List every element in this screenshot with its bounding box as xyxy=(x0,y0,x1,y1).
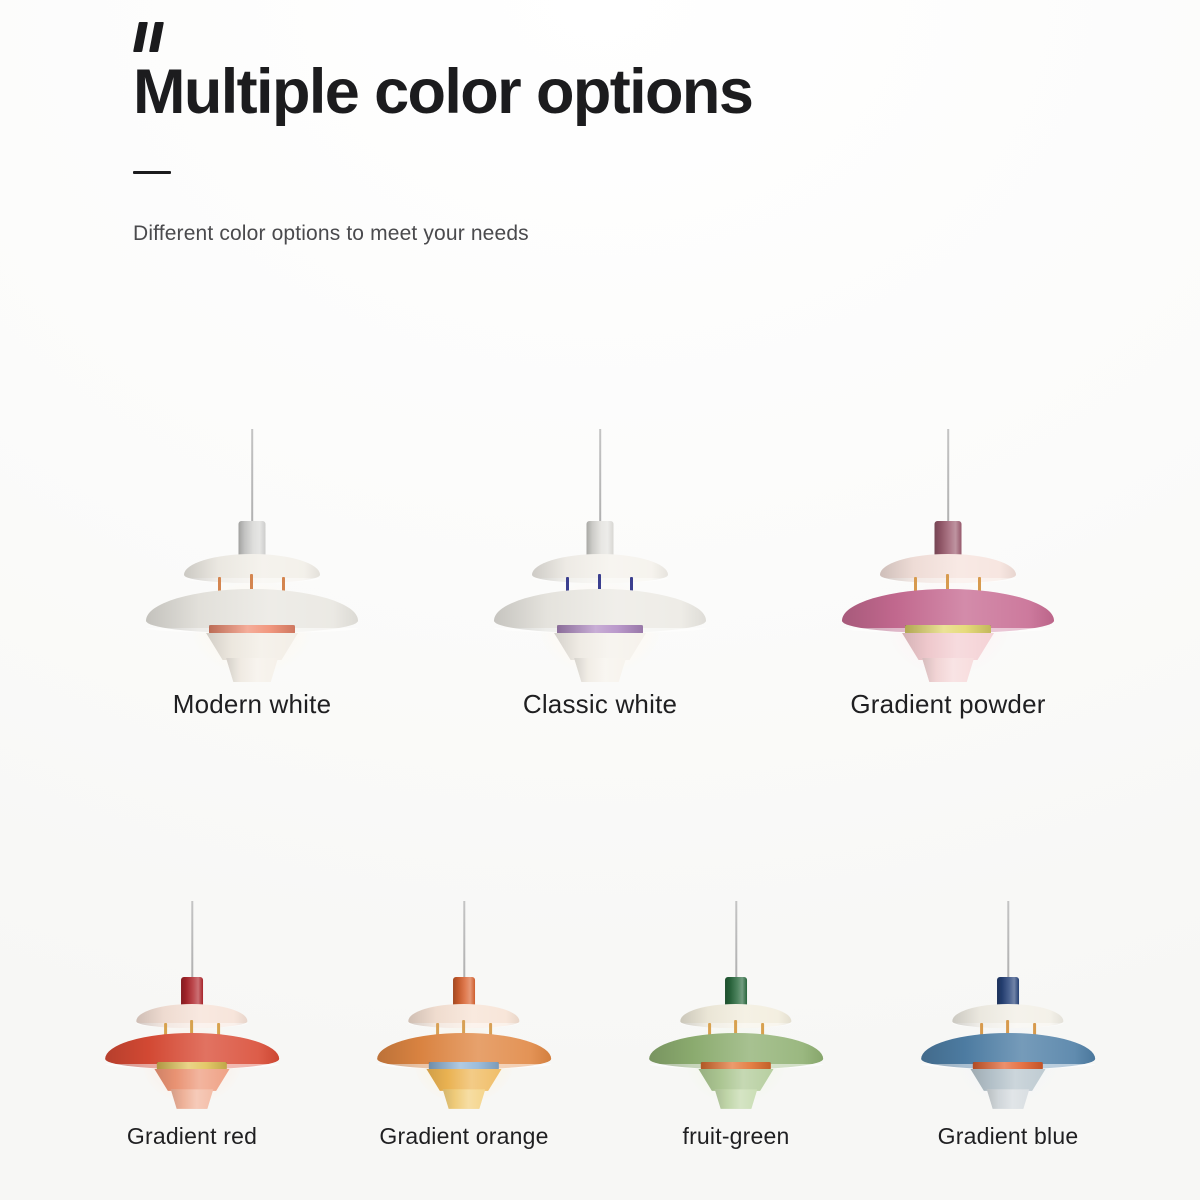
page-subtitle: Different color options to meet your nee… xyxy=(133,222,1033,246)
variant-label-gradient-orange: Gradient orange xyxy=(379,1123,548,1150)
lamp-cylinder xyxy=(725,977,747,1007)
lamp-inner-ring xyxy=(429,1062,500,1069)
variant-card-classic-white[interactable]: Classic white xyxy=(426,415,774,720)
lamp-cylinder xyxy=(997,977,1019,1007)
variant-row-top: Modern white Classic white xyxy=(0,415,1200,720)
lamp-cone-lower xyxy=(715,1089,758,1109)
lamp-stage-gradient-powder xyxy=(774,415,1122,665)
pendant-lamp-gradient-orange[interactable] xyxy=(377,901,551,1095)
cord-icon xyxy=(251,429,253,525)
variant-label-classic-white: Classic white xyxy=(523,689,677,720)
lamp-cone-upper xyxy=(902,633,994,660)
lamp-inner-ring xyxy=(973,1062,1044,1069)
lamp-cone-lower xyxy=(443,1089,486,1109)
cord-icon xyxy=(947,429,949,525)
variant-row-bottom: Gradient red Gradient orange xyxy=(0,845,1200,1150)
variant-label-fruit-green: fruit-green xyxy=(682,1123,789,1150)
lamp-stage-gradient-orange xyxy=(328,845,600,1095)
pendant-lamp-modern-white[interactable] xyxy=(146,429,358,665)
lamp-cone-upper xyxy=(206,633,298,660)
pendant-lamp-gradient-blue[interactable] xyxy=(921,901,1095,1095)
pendant-lamp-fruit-green[interactable] xyxy=(649,901,823,1095)
lamp-cone-upper xyxy=(970,1069,1045,1091)
product-color-options-page: Multiple color options Different color o… xyxy=(0,0,1200,1200)
lamp-cone-lower xyxy=(171,1089,214,1109)
variant-label-gradient-red: Gradient red xyxy=(127,1123,257,1150)
double-quote-icon xyxy=(136,22,1033,58)
lamp-inner-ring xyxy=(209,625,295,634)
lamp-cone-upper xyxy=(698,1069,773,1091)
lamp-cone-lower xyxy=(987,1089,1030,1109)
lamp-cone-lower xyxy=(574,658,626,682)
variant-card-modern-white[interactable]: Modern white xyxy=(78,415,426,720)
lamp-cylinder xyxy=(239,521,266,558)
variant-card-gradient-red[interactable]: Gradient red xyxy=(56,845,328,1150)
lamp-stage-classic-white xyxy=(426,415,774,665)
lamp-inner-ring xyxy=(701,1062,772,1069)
lamp-cone-upper xyxy=(554,633,646,660)
cord-icon xyxy=(463,901,465,980)
lamp-stage-modern-white xyxy=(78,415,426,665)
variant-card-gradient-blue[interactable]: Gradient blue xyxy=(872,845,1144,1150)
pendant-lamp-gradient-powder[interactable] xyxy=(842,429,1054,665)
lamp-inner-ring xyxy=(557,625,643,634)
cord-icon xyxy=(191,901,193,980)
cord-icon xyxy=(1007,901,1009,980)
page-title: Multiple color options xyxy=(133,60,1033,125)
lamp-cylinder xyxy=(453,977,475,1007)
variant-label-gradient-powder: Gradient powder xyxy=(850,689,1045,720)
lamp-cylinder xyxy=(587,521,614,558)
lamp-stage-fruit-green xyxy=(600,845,872,1095)
lamp-cylinder xyxy=(181,977,203,1007)
pendant-lamp-classic-white[interactable] xyxy=(494,429,706,665)
variant-card-gradient-orange[interactable]: Gradient orange xyxy=(328,845,600,1150)
pendant-lamp-gradient-red[interactable] xyxy=(105,901,279,1095)
lamp-stage-gradient-blue xyxy=(872,845,1144,1095)
header: Multiple color options Different color o… xyxy=(133,22,1033,246)
lamp-stage-gradient-red xyxy=(56,845,328,1095)
lamp-inner-ring xyxy=(157,1062,228,1069)
lamp-cone-lower xyxy=(226,658,278,682)
cord-icon xyxy=(735,901,737,980)
lamp-cylinder xyxy=(935,521,962,558)
variant-card-fruit-green[interactable]: fruit-green xyxy=(600,845,872,1150)
lamp-cone-upper xyxy=(154,1069,229,1091)
variant-label-modern-white: Modern white xyxy=(173,689,331,720)
horizontal-rule-divider xyxy=(133,171,171,174)
variant-label-gradient-blue: Gradient blue xyxy=(938,1123,1079,1150)
variant-card-gradient-powder[interactable]: Gradient powder xyxy=(774,415,1122,720)
cord-icon xyxy=(599,429,601,525)
lamp-inner-ring xyxy=(905,625,991,634)
lamp-cone-lower xyxy=(922,658,974,682)
lamp-cone-upper xyxy=(426,1069,501,1091)
